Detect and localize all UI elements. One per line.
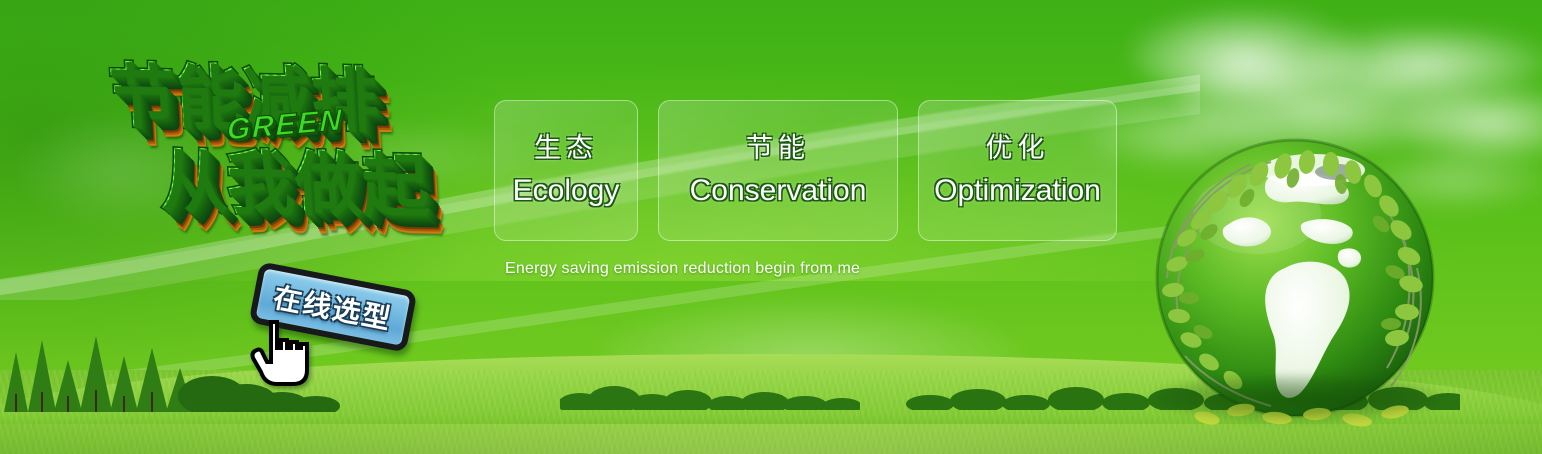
feature-cn-label: 节能 [746,135,810,162]
globe-shadow [1151,374,1441,422]
feature-en-label: Ecology [513,176,620,206]
feature-boxes: 生态 Ecology 节能 Conservation 优化 Optimizati… [494,100,1117,241]
cloud-icon [1300,26,1542,96]
cloud-icon [1130,10,1360,96]
headline-line-bottom: 从我做起 [157,142,430,224]
green-energy-banner: 节能减排 节能减排 GREEN 从我做起 从我做起 在线选型 生态 Ecolog… [0,0,1542,454]
headline-artwork: 节能减排 节能减排 GREEN 从我做起 从我做起 [90,24,501,275]
feature-box-conservation[interactable]: 节能 Conservation [658,100,898,241]
feature-box-optimization[interactable]: 优化 Optimization [918,100,1117,241]
pointing-hand-cursor-icon [248,318,318,390]
feature-cn-label: 生态 [534,135,598,162]
tagline: Energy saving emission reduction begin f… [505,260,860,278]
feature-box-ecology[interactable]: 生态 Ecology [494,100,638,241]
feature-en-label: Optimization [934,176,1101,206]
leafy-green-globe-icon [1145,128,1445,428]
feature-cn-label: 优化 [986,135,1050,162]
feature-en-label: Conservation [690,176,867,206]
